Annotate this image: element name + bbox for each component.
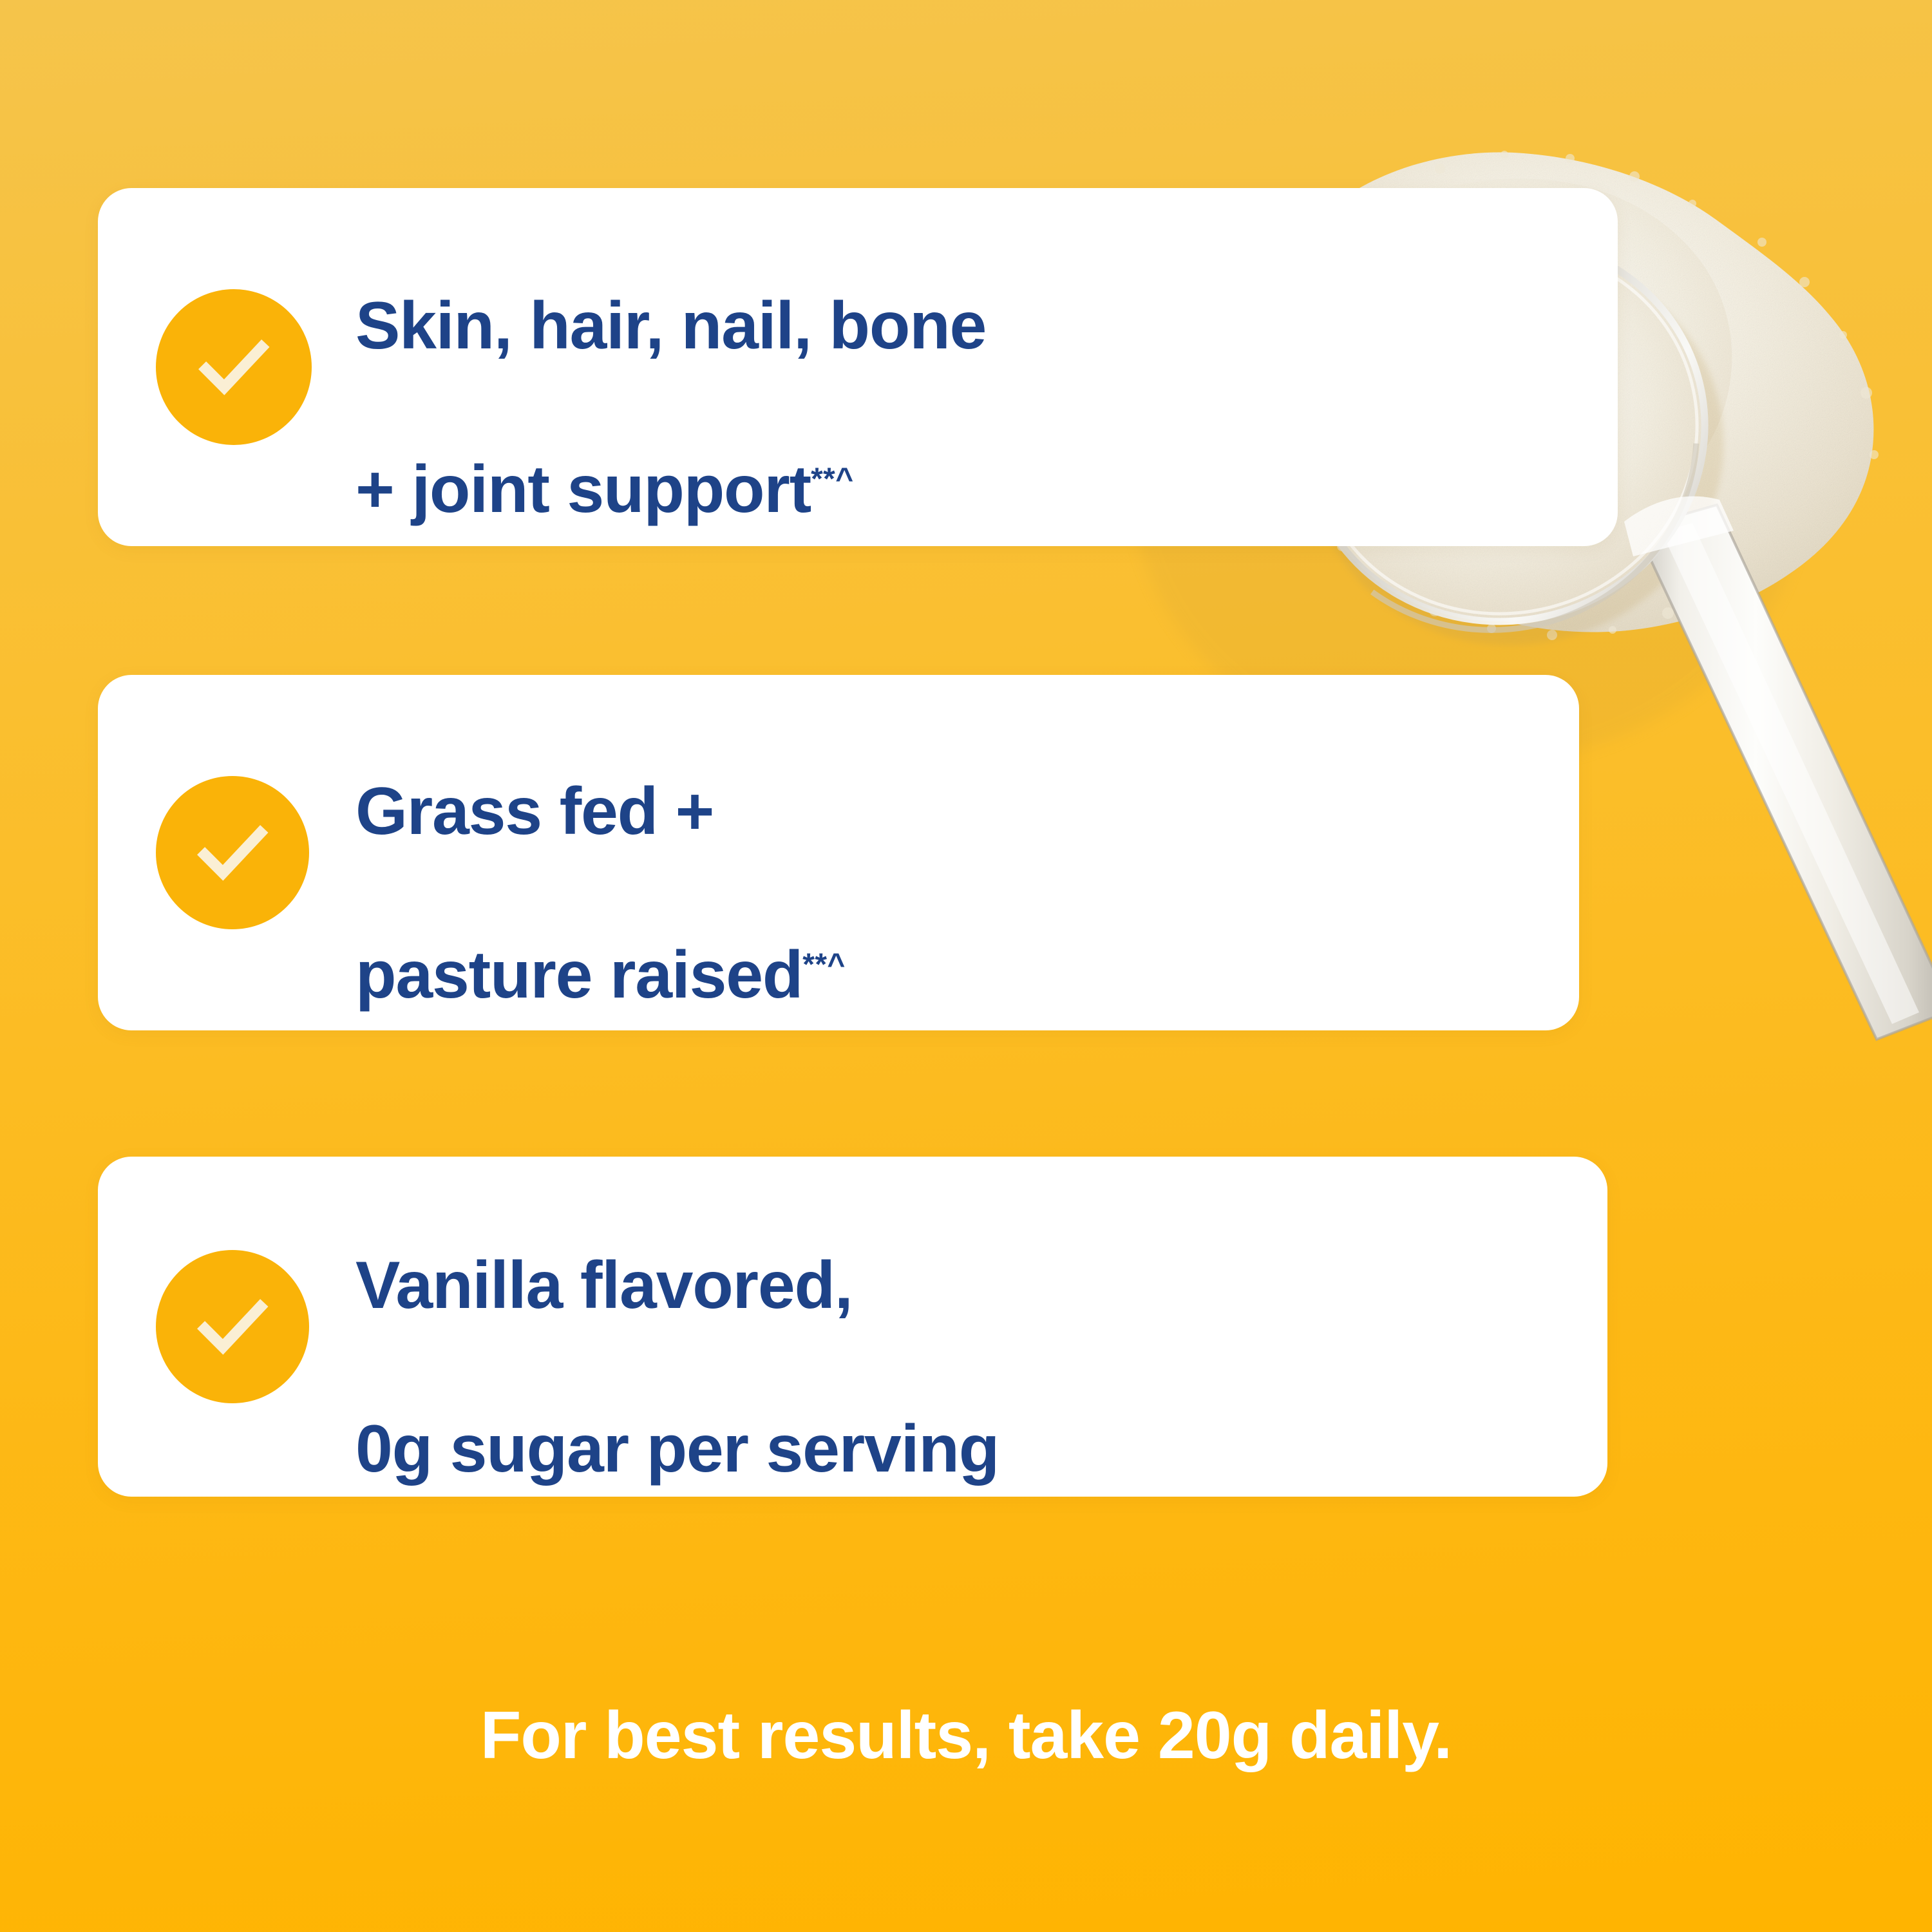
benefit-line-2: + joint support [355, 452, 811, 527]
benefit-text-1: Skin, hair, nail, bone + joint support**… [355, 204, 986, 531]
benefit-line-2: pasture raised [355, 938, 802, 1012]
benefit-footnote: **^ [811, 462, 854, 496]
benefit-text-2: Grass fed + pasture raised**^ [355, 689, 846, 1016]
benefit-text-3: Vanilla flavored, 0g sugar per serving [355, 1163, 999, 1490]
benefit-line-1: Vanilla flavored, [355, 1248, 852, 1323]
benefit-card-3: Vanilla flavored, 0g sugar per serving [98, 1157, 1607, 1497]
check-icon [156, 289, 312, 445]
benefit-card-2: Grass fed + pasture raised**^ [98, 675, 1579, 1030]
benefit-card-1: Skin, hair, nail, bone + joint support**… [98, 188, 1618, 546]
benefit-line-1: Grass fed + [355, 774, 714, 849]
check-icon [156, 776, 309, 929]
benefit-line-2: 0g sugar per serving [355, 1412, 999, 1486]
promo-canvas: Skin, hair, nail, bone + joint support**… [0, 0, 1932, 1932]
usage-tagline: For best results, take 20g daily. [0, 1698, 1932, 1774]
benefit-line-1: Skin, hair, nail, bone [355, 289, 986, 363]
check-icon [156, 1250, 309, 1403]
benefit-footnote: **^ [802, 947, 846, 981]
